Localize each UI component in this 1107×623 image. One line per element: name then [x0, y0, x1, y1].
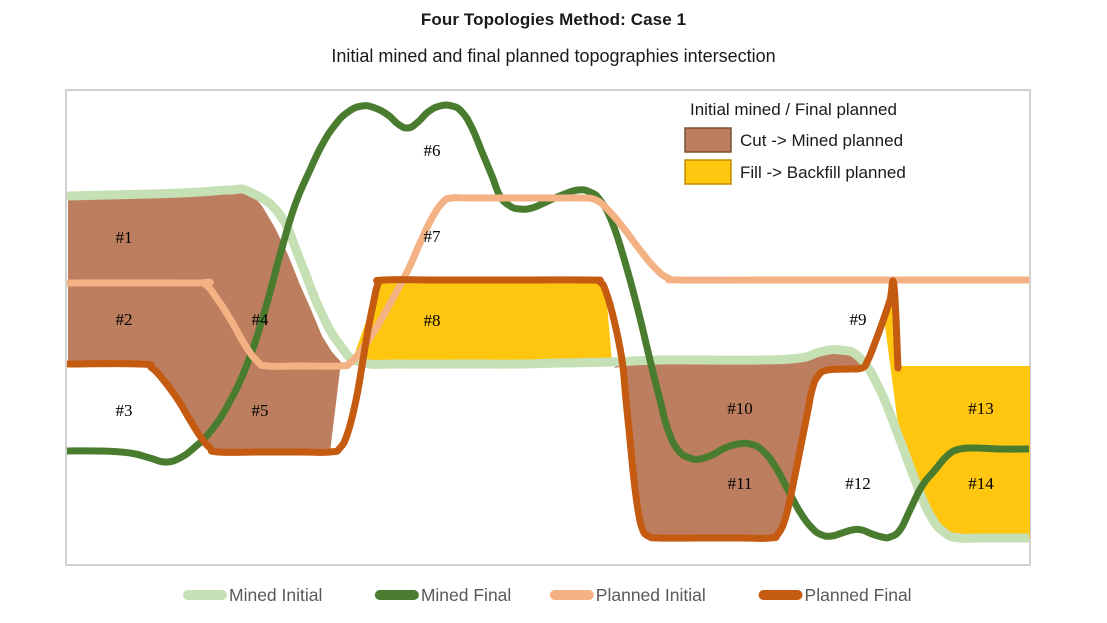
- inner-legend-item-1[interactable]: Cut -> Mined planned: [685, 128, 903, 152]
- region-label-n14: #14: [968, 474, 994, 493]
- region-label-n2: #2: [116, 310, 133, 329]
- region-label-n4: #4: [252, 310, 270, 329]
- region-label-n10: #10: [727, 399, 753, 418]
- region-label-n12: #12: [845, 474, 871, 493]
- region-label-n9: #9: [850, 310, 867, 329]
- series-legend-label-4: Planned Final: [805, 585, 912, 605]
- inner-legend: Initial mined / Final plannedCut -> Mine…: [685, 100, 906, 184]
- series-legend-item-4[interactable]: Planned Final: [759, 585, 912, 605]
- region-label-n1: #1: [116, 228, 133, 247]
- series-legend-item-2[interactable]: Mined Final: [375, 585, 511, 605]
- series-legend-item-1[interactable]: Mined Initial: [183, 585, 322, 605]
- series-legend-label-1: Mined Initial: [229, 585, 322, 605]
- region-label-n7: #7: [424, 227, 442, 246]
- region-label-n5: #5: [252, 401, 269, 420]
- series-legend-swatch-2: [375, 590, 419, 600]
- series-legend-swatch-3: [550, 590, 594, 600]
- inner-legend-heading: Initial mined / Final planned: [690, 100, 897, 119]
- topology-chart: #1#2#3#4#5#6#7#8#9#10#11#12#13#14 Initia…: [0, 0, 1107, 623]
- area-fill-8: [351, 280, 612, 364]
- series-legend-item-3[interactable]: Planned Initial: [550, 585, 706, 605]
- region-label-n6: #6: [424, 141, 441, 160]
- region-label-n11: #11: [728, 474, 753, 493]
- series-legend: Mined InitialMined FinalPlanned InitialP…: [183, 585, 912, 605]
- inner-legend-label-1: Cut -> Mined planned: [740, 131, 903, 150]
- chart-root: Four Topologies Method: Case 1 Initial m…: [0, 0, 1107, 623]
- region-label-n8: #8: [424, 311, 441, 330]
- series-legend-swatch-4: [759, 590, 803, 600]
- legend-swatch-fill: [685, 160, 731, 184]
- series-legend-label-2: Mined Final: [421, 585, 511, 605]
- inner-legend-item-2[interactable]: Fill -> Backfill planned: [685, 160, 906, 184]
- legend-swatch-cut: [685, 128, 731, 152]
- region-label-n3: #3: [116, 401, 133, 420]
- series-legend-swatch-1: [183, 590, 227, 600]
- series-legend-label-3: Planned Initial: [596, 585, 706, 605]
- inner-legend-label-2: Fill -> Backfill planned: [740, 163, 906, 182]
- region-label-n13: #13: [968, 399, 994, 418]
